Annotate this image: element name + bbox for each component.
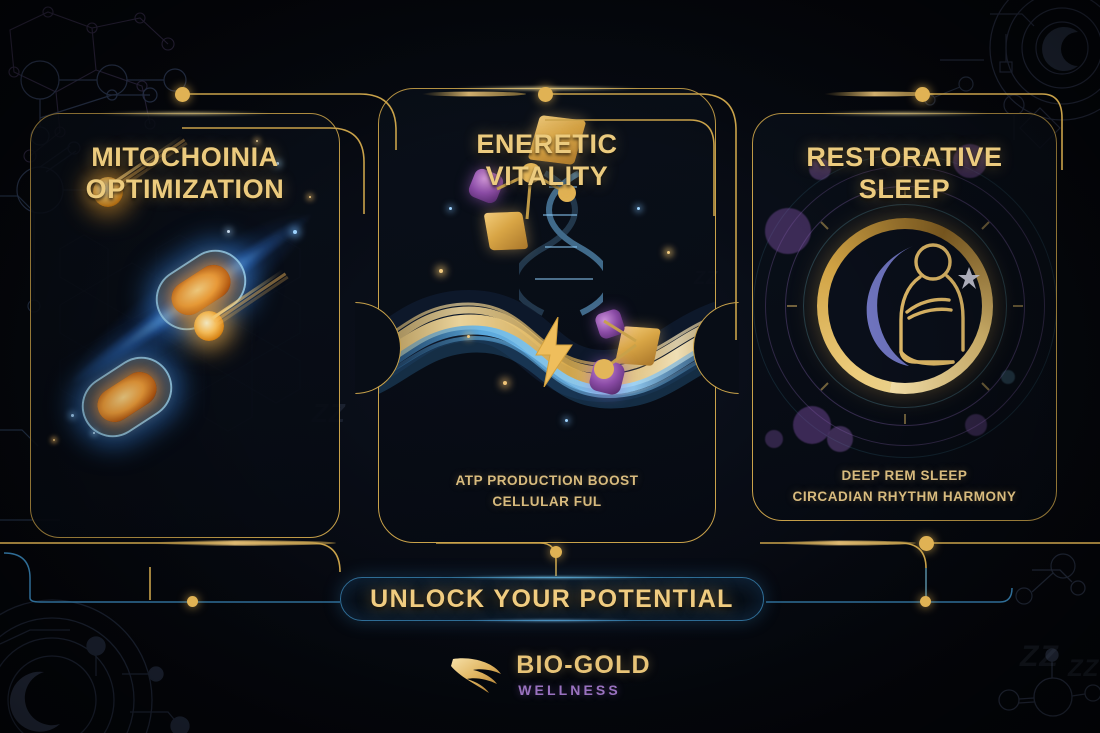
- cta-label: UNLOCK YOUR POTENTIAL: [370, 585, 734, 614]
- card-caption-line-1: ATP PRODUCTION BOOST: [389, 471, 705, 492]
- bokeh-circle: [765, 208, 811, 254]
- seated-person-icon: [877, 240, 989, 382]
- card-title-line-2: SLEEP: [753, 174, 1056, 206]
- brand-name: BIO-GOLD: [516, 653, 651, 678]
- bokeh-circle: [793, 406, 831, 444]
- card-mitochondria-title: MITOCHOINIA OPTIMIZATION: [31, 142, 339, 206]
- card-title-line-1: MITOCHOINIA: [31, 142, 339, 174]
- card-energy-caption: ATP PRODUCTION BOOST CELLULAR FUL: [389, 471, 705, 513]
- card-sleep[interactable]: RESTORATIVE SLEEP DEEP REM SLEEP CIRCADI…: [752, 113, 1057, 521]
- trace-node-2: [538, 87, 553, 102]
- sparkle-dust: [637, 207, 640, 210]
- card-mitochondria[interactable]: MITOCHOINIA OPTIMIZATION: [30, 113, 340, 538]
- card-title-line-1: RESTORATIVE: [753, 142, 1056, 174]
- logo-text: BIO-GOLD WELLNESS: [516, 653, 651, 697]
- card-title-line-2: OPTIMIZATION: [31, 174, 339, 206]
- sparkle-dust: [93, 432, 95, 434]
- sparkle-dust: [53, 439, 55, 441]
- brand-logo: BIO-GOLD WELLNESS: [0, 645, 1100, 705]
- card-energy[interactable]: ENERETIC VITALITY ATP PRODUCTION BOOST C…: [378, 88, 716, 543]
- sparkle-dust: [71, 414, 74, 417]
- trace-node-3: [915, 87, 930, 102]
- card-title-line-1: ENERETIC: [379, 129, 715, 161]
- trace-node-5: [550, 546, 562, 558]
- card-caption-line-1: DEEP REM SLEEP: [763, 466, 1046, 487]
- comet-particle-lower: [194, 311, 224, 341]
- card-caption-line-2: CIRCADIAN RHYTHM HARMONY: [763, 487, 1046, 508]
- sparkle-dust: [449, 207, 452, 210]
- trace-node-1: [175, 87, 190, 102]
- bokeh-circle: [1001, 370, 1015, 384]
- trace-node-6: [920, 596, 931, 607]
- card-sleep-caption: DEEP REM SLEEP CIRCADIAN RHYTHM HARMONY: [763, 466, 1046, 508]
- sparkle-dust: [293, 230, 297, 234]
- brand-tagline: WELLNESS: [518, 683, 651, 697]
- molecule-bonds-lower: [584, 307, 674, 397]
- card-title-line-2: VITALITY: [379, 161, 715, 193]
- sparkle-dust: [227, 230, 230, 233]
- sparkle-dust: [503, 381, 507, 385]
- lightning-bolt-icon: [534, 317, 574, 387]
- unlock-your-potential-button[interactable]: UNLOCK YOUR POTENTIAL: [340, 577, 764, 621]
- bokeh-circle: [827, 426, 853, 452]
- card-caption-line-2: CELLULAR FUL: [389, 492, 705, 513]
- sparkle-dust: [467, 335, 470, 338]
- card-sleep-title: RESTORATIVE SLEEP: [753, 142, 1056, 206]
- card-energy-title: ENERETIC VITALITY: [379, 129, 715, 193]
- star-icon: [957, 266, 981, 290]
- trace-node-7: [919, 536, 934, 551]
- trace-node-4: [187, 596, 198, 607]
- bokeh-circle: [965, 414, 987, 436]
- sparkle-dust: [439, 269, 443, 273]
- bokeh-circle: [765, 430, 783, 448]
- sparkle-dust: [565, 419, 568, 422]
- wing-icon: [449, 654, 505, 696]
- sparkle-dust: [667, 251, 670, 254]
- poster-canvas: ZZ ZZ ZZ ZZ: [0, 0, 1100, 733]
